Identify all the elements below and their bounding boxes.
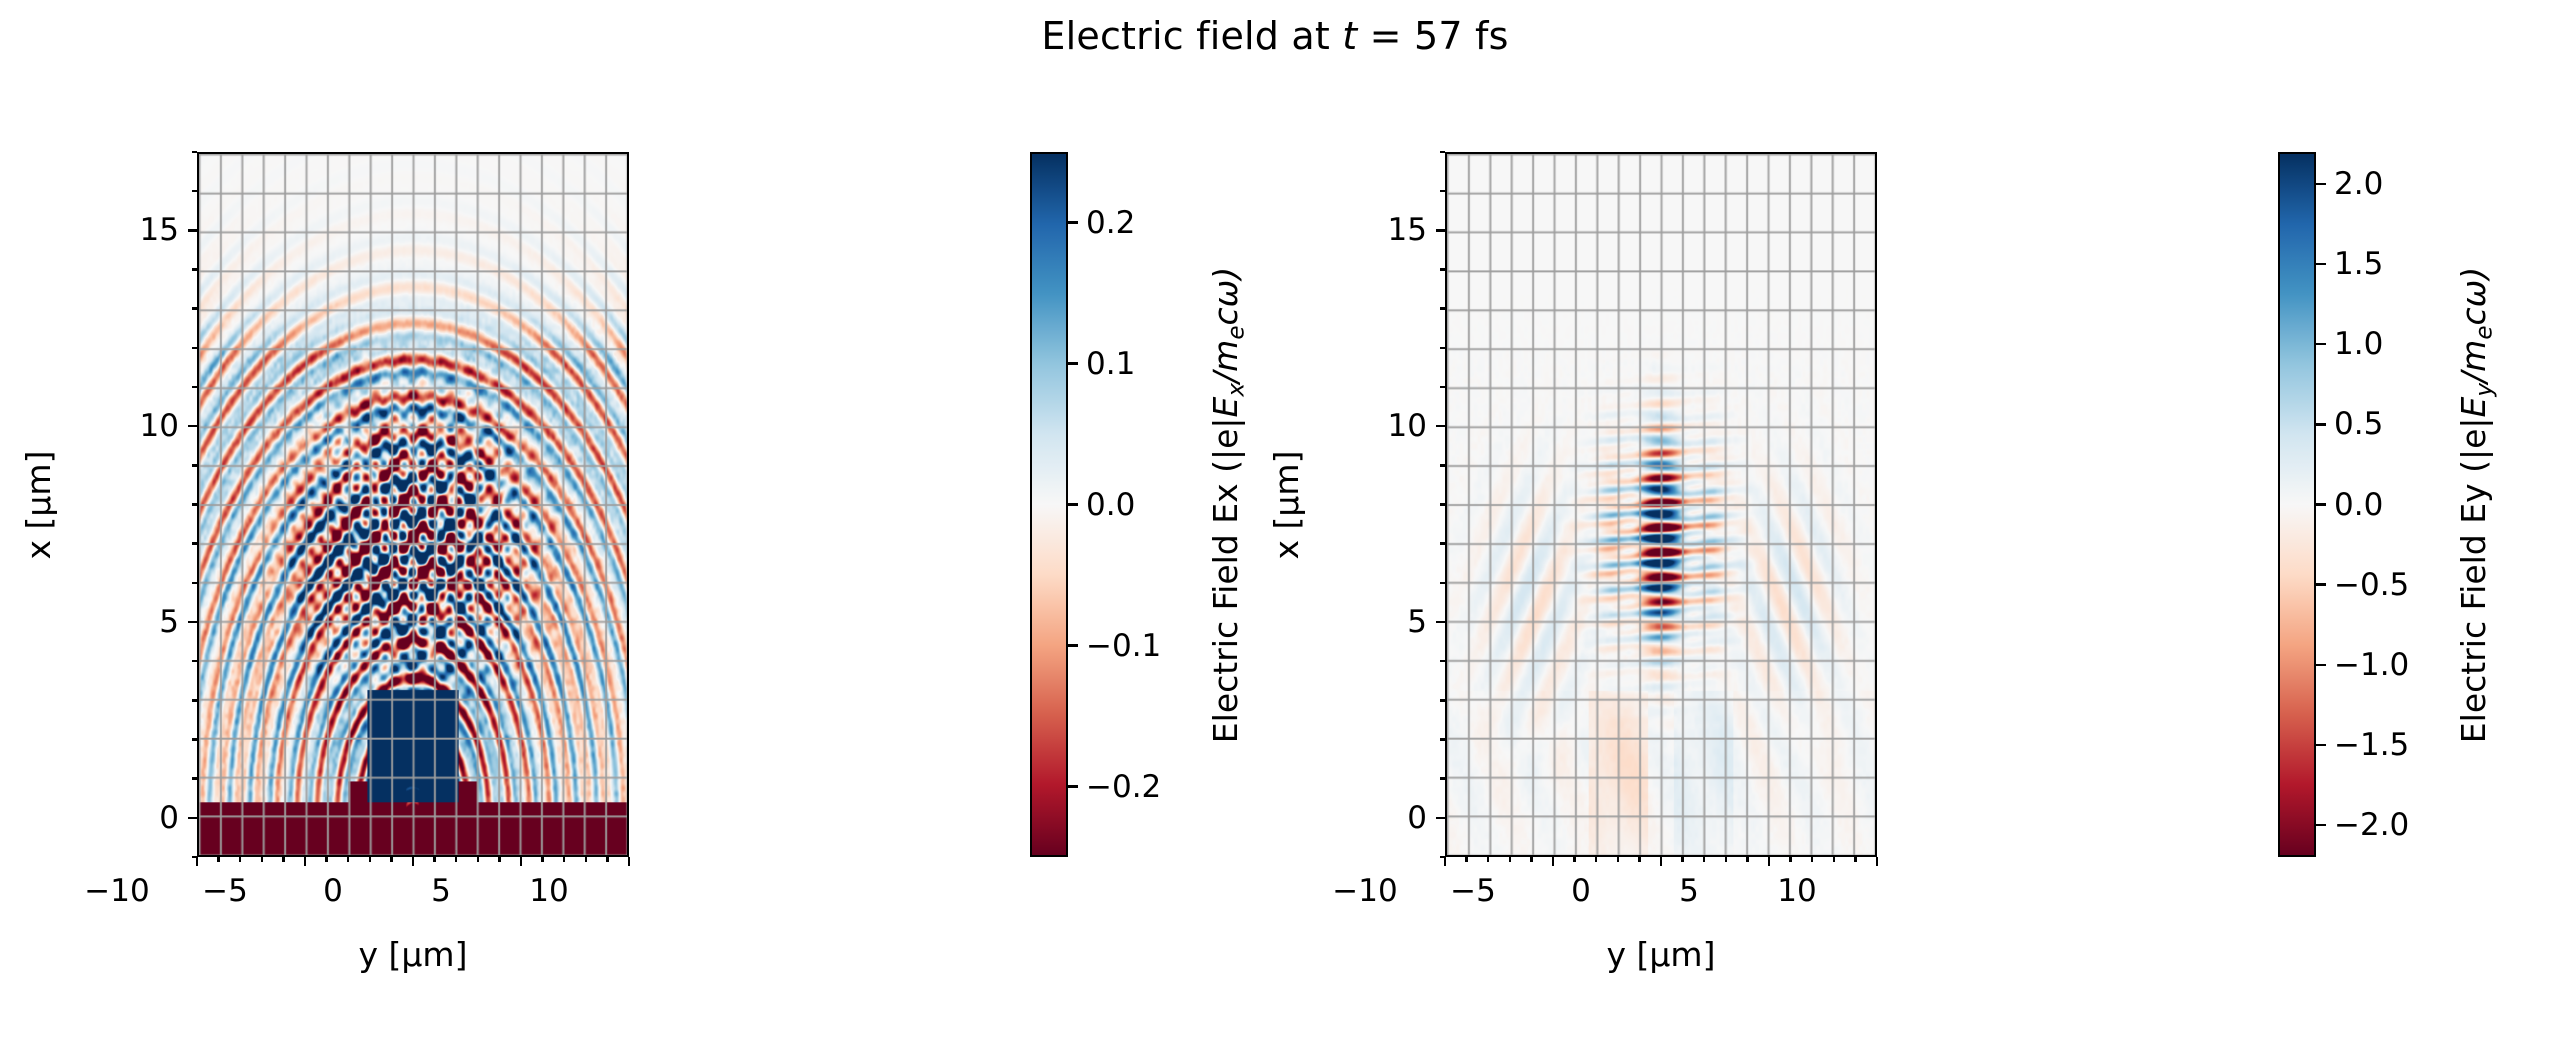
xtick-ex-8 (585, 857, 587, 862)
cbar-title-E-ey: E (2454, 396, 2493, 417)
ytick-ex-4 (192, 660, 197, 662)
axes-ex[interactable] (197, 152, 629, 857)
figure-title: Electric field at t = 57 fs (0, 8, 2550, 64)
title-variable: t (1342, 14, 1357, 58)
cbar-ticklabel-ey-6: −1.0 (2334, 647, 2409, 683)
xtick-ey-10 (1876, 857, 1878, 866)
ytick-ey-5 (1436, 621, 1445, 623)
cbar-ticklabel-ex-4: −0.2 (1086, 769, 1161, 805)
xtick-ex--5 (304, 857, 306, 866)
xtick-ey--4 (1573, 857, 1575, 862)
xtick-ey-0 (1660, 857, 1662, 866)
ytick-ey-13 (1440, 307, 1445, 309)
xtick-ex--8 (239, 857, 241, 862)
xtick-ex-6 (541, 857, 543, 862)
xtick-ey--10 (1444, 857, 1446, 866)
ytick-label-ex-0: 0 (57, 800, 179, 836)
xtick-ey--7 (1509, 857, 1511, 862)
xtick-ex--1 (390, 857, 392, 862)
xtick-ey--6 (1530, 857, 1532, 862)
cbar-ticklabel-ey-0: 2.0 (2334, 166, 2383, 202)
xtick-ex-1 (433, 857, 435, 862)
xtick-ey--9 (1465, 857, 1467, 862)
ytick-ex-1 (192, 777, 197, 779)
ytick-ex-12 (192, 347, 197, 349)
ytick-ex-11 (192, 386, 197, 388)
xtick-ey--5 (1552, 857, 1554, 866)
cbar-tick-ey-2 (2316, 343, 2326, 345)
gridlines-ey (1447, 154, 1875, 855)
ytick-ey-0 (1436, 817, 1445, 819)
xtick-ey--3 (1595, 857, 1597, 862)
xtick-ey-5 (1768, 857, 1770, 866)
ytick-ey-17 (1440, 151, 1445, 153)
ytick-ey-14 (1440, 268, 1445, 270)
cbar-title-sub2-ex: e (1223, 325, 1249, 339)
cbar-tick-ey-3 (2316, 423, 2326, 425)
colorbar-gradient-ey (2280, 154, 2314, 855)
xtick-ey-2 (1703, 857, 1705, 862)
xtick-ey-8 (1833, 857, 1835, 862)
ytick-ex-9 (192, 464, 197, 466)
xtick-ex--6 (282, 857, 284, 862)
colorbar-gradient-ex (1032, 154, 1066, 855)
cbar-tick-ex-1 (1068, 362, 1078, 364)
cbar-title-prefix-ex: Electric Field Ex (|e| (1206, 417, 1245, 743)
xtick-ey--1 (1638, 857, 1640, 862)
cbar-ticklabel-ex-2: 0.0 (1086, 487, 1135, 523)
ytick-ey-9 (1440, 464, 1445, 466)
xtick-ex-5 (520, 857, 522, 866)
cbar-title-E-ex: E (1206, 396, 1245, 417)
panel-ex (197, 152, 629, 857)
cbar-tick-ey-1 (2316, 263, 2326, 265)
xtick-label-ey-10: 10 (1717, 873, 1877, 909)
ytick-label-ex-15: 15 (57, 212, 179, 248)
xtick-ex-9 (606, 857, 608, 862)
cbar-ticklabel-ey-3: 0.5 (2334, 406, 2383, 442)
ytick-ey-4 (1440, 660, 1445, 662)
xtick-ex-3 (477, 857, 479, 862)
figure-canvas: Electric field at t = 57 fs 051015−10−50… (0, 0, 2550, 1050)
colorbar-title-ey: Electric Field Ey (|e|Ey/mecω) (2454, 266, 2497, 742)
cbar-tick-ex-2 (1068, 503, 1078, 505)
cbar-ticklabel-ey-8: −2.0 (2334, 807, 2409, 843)
ytick-ey-10 (1436, 425, 1445, 427)
ytick-label-ex-5: 5 (57, 604, 179, 640)
xtick-ex--3 (347, 857, 349, 862)
ytick-ey-8 (1440, 503, 1445, 505)
cbar-tick-ex-0 (1068, 221, 1078, 223)
colorbar-ey[interactable] (2278, 152, 2316, 857)
xtick-ey-3 (1725, 857, 1727, 862)
cbar-ticklabel-ex-1: 0.1 (1086, 346, 1135, 382)
xaxis-label-ex: y [µm] (359, 935, 468, 974)
ytick-ey-11 (1440, 386, 1445, 388)
ytick-ey-12 (1440, 347, 1445, 349)
ytick-ey-6 (1440, 582, 1445, 584)
xtick-ex--7 (261, 857, 263, 862)
xtick-ex--10 (196, 857, 198, 866)
cbar-tick-ey-6 (2316, 664, 2326, 666)
cbar-title-sub-ex: x (1223, 382, 1249, 396)
cbar-tick-ey-5 (2316, 583, 2326, 585)
ytick-ex-5 (188, 621, 197, 623)
cbar-ticklabel-ey-4: 0.0 (2334, 487, 2383, 523)
cbar-ticklabel-ex-3: −0.1 (1086, 628, 1161, 664)
ytick-ex-17 (192, 151, 197, 153)
cbar-title-prefix-ey: Electric Field Ey (|e| (2454, 417, 2493, 743)
cbar-title-sub-ey: y (2471, 382, 2497, 396)
xtick-ex--9 (217, 857, 219, 862)
xtick-ey-7 (1811, 857, 1813, 862)
cbar-ticklabel-ey-1: 1.5 (2334, 246, 2383, 282)
ytick-ex-10 (188, 425, 197, 427)
xtick-ey-1 (1681, 857, 1683, 862)
cbar-title-tail-ey: cω) (2454, 266, 2493, 325)
xaxis-label-ey: y [µm] (1607, 935, 1716, 974)
ytick-label-ey-10: 10 (1305, 408, 1427, 444)
cbar-title-sub2-ey: e (2471, 325, 2497, 339)
cbar-ticklabel-ey-2: 1.0 (2334, 326, 2383, 362)
xtick-ex-4 (498, 857, 500, 862)
xtick-ex--4 (325, 857, 327, 862)
xtick-ex-2 (455, 857, 457, 862)
xtick-ey-6 (1789, 857, 1791, 862)
cbar-title-slash-ex: /m (1206, 339, 1245, 382)
ytick-ex-13 (192, 307, 197, 309)
ytick-ey-2 (1440, 738, 1445, 740)
yaxis-label-ey: x [µm] (1267, 450, 1306, 559)
cbar-title-tail-ex: cω) (1206, 266, 1245, 325)
cbar-tick-ey-0 (2316, 183, 2326, 185)
cbar-tick-ex-3 (1068, 644, 1078, 646)
cbar-ticklabel-ey-7: −1.5 (2334, 727, 2409, 763)
ytick-ex-3 (192, 699, 197, 701)
axes-ey[interactable] (1445, 152, 1877, 857)
xtick-ex-7 (563, 857, 565, 862)
cbar-tick-ey-4 (2316, 503, 2326, 505)
colorbar-ex[interactable] (1030, 152, 1068, 857)
xtick-ey-4 (1746, 857, 1748, 862)
panel-ey (1445, 152, 1877, 857)
ytick-label-ey-15: 15 (1305, 212, 1427, 248)
ytick-label-ey-0: 0 (1305, 800, 1427, 836)
cbar-tick-ey-8 (2316, 824, 2326, 826)
ytick-ex-8 (192, 503, 197, 505)
xtick-ey-9 (1854, 857, 1856, 862)
cbar-title-slash-ey: /m (2454, 339, 2493, 382)
gridlines-ex (199, 154, 627, 855)
ytick-ex-2 (192, 738, 197, 740)
xtick-ey--2 (1617, 857, 1619, 862)
ytick-ey-15 (1436, 229, 1445, 231)
ytick-ex-16 (192, 190, 197, 192)
xtick-ex-10 (628, 857, 630, 866)
ytick-ey-7 (1440, 542, 1445, 544)
yaxis-label-ex: x [µm] (19, 450, 58, 559)
xtick-ex-0 (412, 857, 414, 866)
cbar-tick-ex-4 (1068, 785, 1078, 787)
xtick-ex--2 (369, 857, 371, 862)
cbar-ticklabel-ey-5: −0.5 (2334, 567, 2409, 603)
ytick-ey-3 (1440, 699, 1445, 701)
cbar-ticklabel-ex-0: 0.2 (1086, 205, 1135, 241)
ytick-ey-1 (1440, 777, 1445, 779)
ytick-label-ex-10: 10 (57, 408, 179, 444)
ytick-ex-15 (188, 229, 197, 231)
colorbar-title-ex: Electric Field Ex (|e|Ex/mecω) (1206, 266, 1249, 742)
xtick-ey--8 (1487, 857, 1489, 862)
xtick-label-ex-10: 10 (469, 873, 629, 909)
title-equation: = 57 fs (1357, 14, 1508, 58)
ytick-ex-6 (192, 582, 197, 584)
ytick-ex-14 (192, 268, 197, 270)
ytick-label-ey-5: 5 (1305, 604, 1427, 640)
ytick-ex-0 (188, 817, 197, 819)
cbar-tick-ey-7 (2316, 744, 2326, 746)
ytick-ex-7 (192, 542, 197, 544)
title-prefix: Electric field at (1041, 14, 1342, 58)
ytick-ey-16 (1440, 190, 1445, 192)
